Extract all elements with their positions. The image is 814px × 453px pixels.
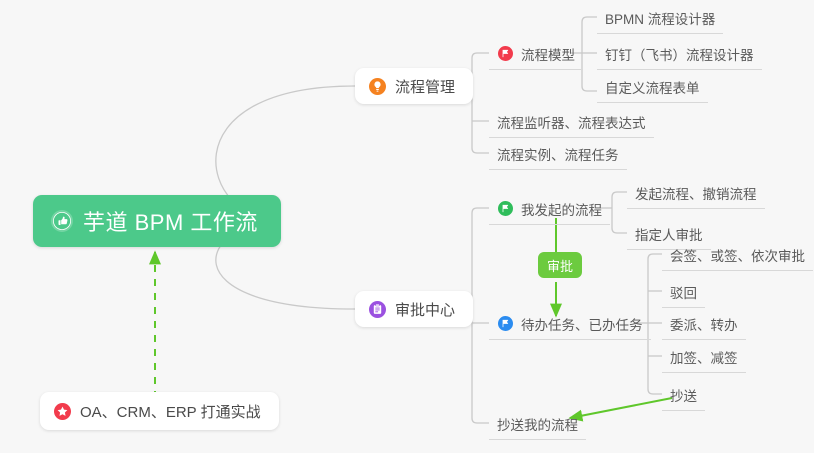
edge-ac-to-ccme [472, 418, 489, 423]
edge-init-to-start [612, 192, 627, 197]
node-label: OA、CRM、ERP 打通实战 [80, 401, 261, 422]
node-process-management[interactable]: 流程管理 [355, 68, 473, 104]
node-instance-task[interactable]: 流程实例、流程任务 [489, 141, 627, 170]
node-label: 自定义流程表单 [605, 77, 700, 97]
node-reject[interactable]: 驳回 [662, 279, 705, 308]
node-label: 发起流程、撤销流程 [635, 183, 757, 203]
flag-icon [497, 315, 514, 332]
node-process-model[interactable]: 流程模型 [489, 41, 583, 70]
node-delegate-transfer[interactable]: 委派、转办 [662, 311, 746, 340]
tag-label: 审批 [547, 256, 573, 275]
node-custom-form[interactable]: 自定义流程表单 [597, 74, 708, 103]
edge-todo-to-multisign [648, 254, 662, 259]
node-add-remove-sign[interactable]: 加签、减签 [662, 344, 746, 373]
node-label: 驳回 [670, 282, 697, 302]
star-icon [54, 403, 71, 420]
edge-ac-to-initiated [472, 208, 489, 213]
node-label: 审批中心 [395, 299, 455, 320]
thumbs-up-icon [51, 210, 73, 232]
node-integration-note[interactable]: OA、CRM、ERP 打通实战 [40, 392, 279, 430]
node-start-cancel[interactable]: 发起流程、撤销流程 [627, 180, 765, 209]
node-dingtalk-designer[interactable]: 钉钉（飞书）流程设计器 [597, 41, 762, 70]
edge-pm-to-model [472, 53, 489, 58]
node-label: 流程监听器、流程表达式 [497, 112, 646, 132]
node-label: 指定人审批 [635, 224, 703, 244]
node-label: 流程模型 [521, 44, 575, 64]
node-label: 加签、减签 [670, 347, 738, 367]
node-label: 委派、转办 [670, 314, 738, 334]
flag-icon [497, 200, 514, 217]
node-cc-to-me[interactable]: 抄送我的流程 [489, 411, 586, 440]
node-label: 抄送我的流程 [497, 414, 578, 434]
node-listener-expression[interactable]: 流程监听器、流程表达式 [489, 109, 654, 138]
edge-model-to-customform [582, 86, 597, 91]
edge-todo-to-cc [648, 389, 662, 394]
node-label: 抄送 [670, 385, 697, 405]
tag-approval[interactable]: 审批 [538, 252, 582, 278]
node-label: 会签、或签、依次审批 [670, 245, 805, 265]
edge-init-to-assignee [612, 228, 627, 233]
flag-icon [497, 45, 514, 62]
node-label: 待办任务、已办任务 [521, 314, 643, 334]
node-label: 流程实例、流程任务 [497, 144, 619, 164]
root-node[interactable]: 芋道 BPM 工作流 [33, 195, 281, 247]
node-label: 钉钉（飞书）流程设计器 [605, 44, 754, 64]
mindmap-canvas: 芋道 BPM 工作流 流程管理 流程模型 BPMN 流程设计器 钉钉（飞书）流程… [0, 0, 814, 453]
node-approval-center[interactable]: 审批中心 [355, 291, 473, 327]
edge-pm-to-instance [472, 148, 489, 153]
node-label: BPMN 流程设计器 [605, 8, 715, 28]
clipboard-icon [369, 301, 386, 318]
node-cc[interactable]: 抄送 [662, 382, 705, 411]
root-label: 芋道 BPM 工作流 [83, 205, 258, 237]
node-label: 流程管理 [395, 76, 455, 97]
lightbulb-icon [369, 78, 386, 95]
node-my-initiated[interactable]: 我发起的流程 [489, 196, 610, 225]
node-label: 我发起的流程 [521, 199, 602, 219]
node-multi-sign[interactable]: 会签、或签、依次审批 [662, 242, 813, 271]
edge-model-to-bpmn [582, 17, 597, 22]
node-todo-done[interactable]: 待办任务、已办任务 [489, 311, 651, 340]
node-bpmn-designer[interactable]: BPMN 流程设计器 [597, 5, 723, 34]
